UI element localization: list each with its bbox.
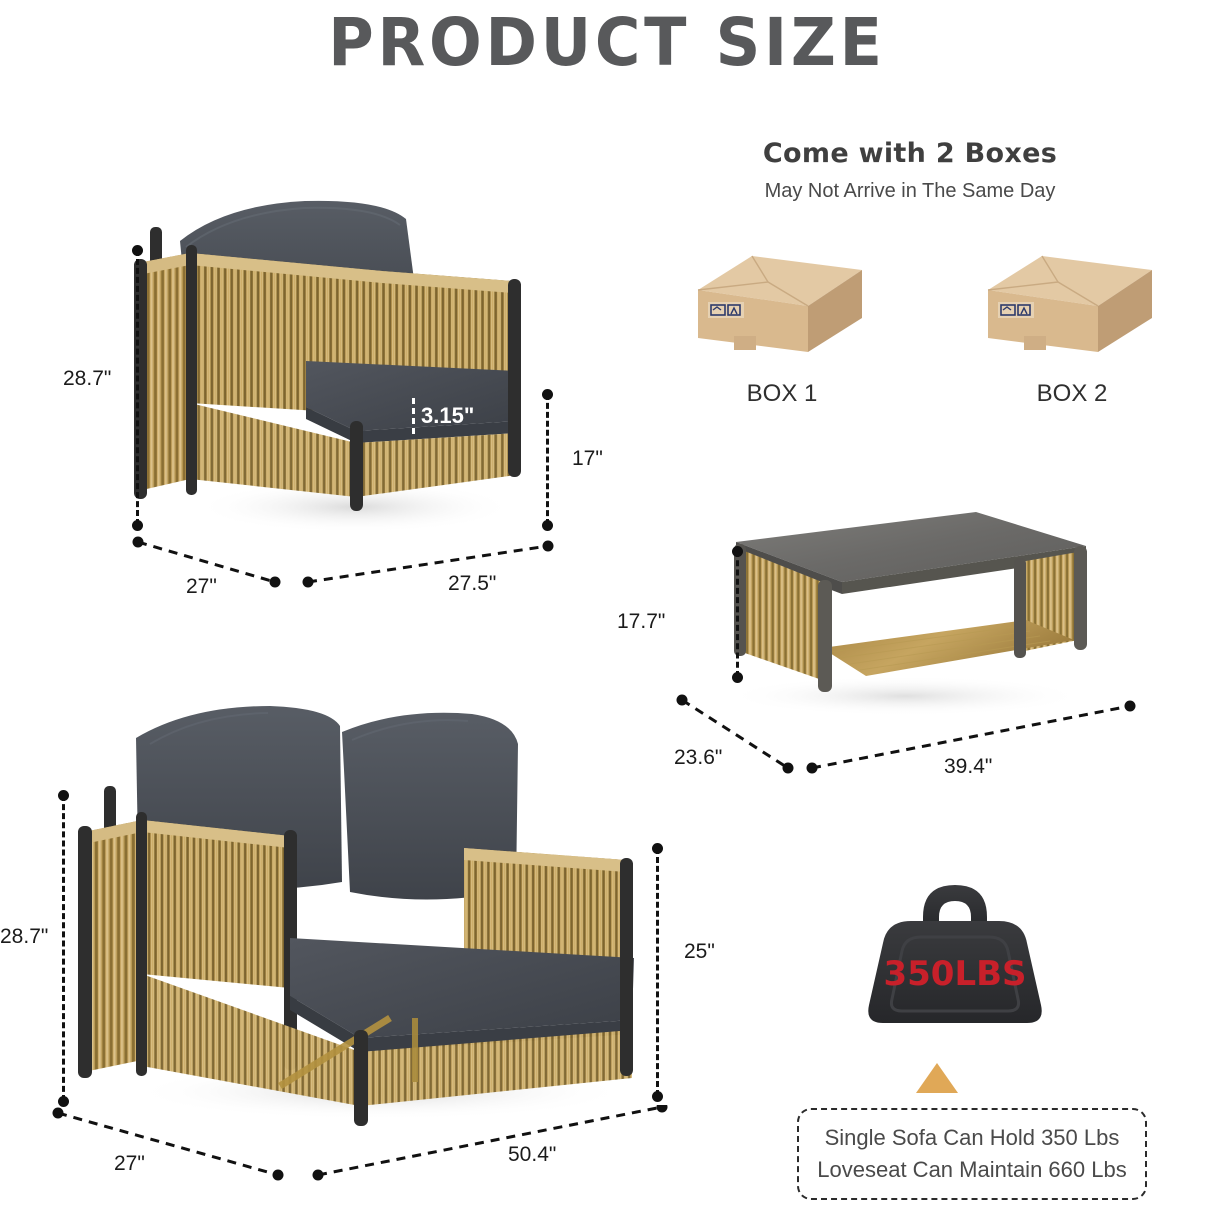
infographic-canvas: PRODUCT SIZE (0, 0, 1214, 1214)
table-height-label: 17.7" (617, 610, 665, 634)
chair-seat-height-label: 17" (572, 447, 603, 471)
weight-icon: 350LBS (845, 865, 1065, 1055)
chair-width-label: 27.5" (448, 572, 496, 596)
weight-pointer-triangle-icon (916, 1063, 958, 1093)
load-capacity-line-2: Loveseat Can Maintain 660 Lbs (817, 1154, 1126, 1186)
weight-badge: 350LBS (845, 865, 1065, 1055)
loveseat-depth-label: 27" (114, 1152, 145, 1176)
load-capacity-line-1: Single Sofa Can Hold 350 Lbs (825, 1122, 1120, 1154)
table-bottom-dimension-lines (660, 690, 1150, 780)
weight-badge-text: 350LBS (883, 954, 1026, 994)
chair-cushion-label: 3.15" (421, 403, 474, 429)
page-title: PRODUCT SIZE (36, 4, 1177, 81)
coffee-table-illustration (690, 500, 1120, 720)
box-1-illustration (690, 248, 870, 363)
boxes-heading: Come with 2 Boxes (660, 138, 1160, 169)
loveseat-illustration (60, 700, 680, 1140)
loveseat-bottom-dimension-lines (40, 1105, 680, 1190)
boxes-subheading: May Not Arrive in The Same Day (660, 180, 1160, 203)
table-depth-label: 23.6" (674, 746, 722, 770)
load-capacity-callout: Single Sofa Can Hold 350 Lbs Loveseat Ca… (797, 1108, 1147, 1200)
chair-height-label: 28.7" (63, 367, 111, 391)
loveseat-width-label: 50.4" (508, 1143, 556, 1167)
box-1-label: BOX 1 (682, 380, 882, 408)
table-width-label: 39.4" (944, 755, 992, 779)
loveseat-height-label: 28.7" (0, 925, 48, 949)
box-2-illustration (980, 248, 1160, 363)
loveseat-arm-height-label: 25" (684, 940, 715, 964)
box-2-label: BOX 2 (972, 380, 1172, 408)
chair-depth-label: 27" (186, 575, 217, 599)
armchair-illustration (120, 175, 590, 550)
